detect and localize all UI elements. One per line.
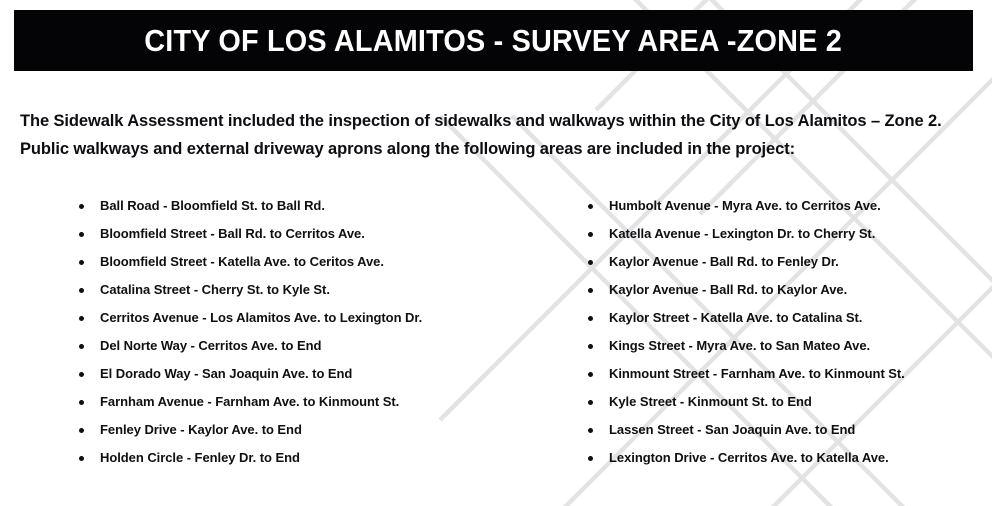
list-item: Bloomfield Street - Ball Rd. to Cerritos… [76,220,520,248]
intro-paragraph: The Sidewalk Assessment included the ins… [20,107,960,163]
street-list-left: Ball Road - Bloomfield St. to Ball Rd. B… [76,192,520,472]
street-label: Humbolt Avenue - Myra Ave. to Cerritos A… [609,198,881,213]
list-item: El Dorado Way - San Joaquin Ave. to End [76,360,520,388]
page-title-bar: CITY OF LOS ALAMITOS - SURVEY AREA -ZONE… [14,10,973,71]
street-label: Kaylor Avenue - Ball Rd. to Fenley Dr. [609,254,839,269]
street-label: Fenley Drive - Kaylor Ave. to End [100,422,302,437]
street-list-right: Humbolt Avenue - Myra Ave. to Cerritos A… [585,192,992,472]
list-item: Lassen Street - San Joaquin Ave. to End [585,416,992,444]
page-title: CITY OF LOS ALAMITOS - SURVEY AREA -ZONE… [145,25,843,56]
street-label: Bloomfield Street - Ball Rd. to Cerritos… [100,226,365,241]
street-label: Cerritos Avenue - Los Alamitos Ave. to L… [100,310,422,325]
street-label: Kings Street - Myra Ave. to San Mateo Av… [609,338,870,353]
list-item: Kings Street - Myra Ave. to San Mateo Av… [585,332,992,360]
list-item: Cerritos Avenue - Los Alamitos Ave. to L… [76,304,520,332]
street-label: Ball Road - Bloomfield St. to Ball Rd. [100,198,325,213]
list-item: Lexington Drive - Cerritos Ave. to Katel… [585,444,992,472]
list-item: Holden Circle - Fenley Dr. to End [76,444,520,472]
street-label: Kinmount Street - Farnham Ave. to Kinmou… [609,366,905,381]
street-label: Bloomfield Street - Katella Ave. to Ceri… [100,254,384,269]
street-label: Katella Avenue - Lexington Dr. to Cherry… [609,226,875,241]
street-list-column-right: Humbolt Avenue - Myra Ave. to Cerritos A… [520,192,992,472]
street-label: Kaylor Avenue - Ball Rd. to Kaylor Ave. [609,282,847,297]
list-item: Katella Avenue - Lexington Dr. to Cherry… [585,220,992,248]
street-label: El Dorado Way - San Joaquin Ave. to End [100,366,352,381]
list-item: Del Norte Way - Cerritos Ave. to End [76,332,520,360]
list-item: Bloomfield Street - Katella Ave. to Ceri… [76,248,520,276]
list-item: Kinmount Street - Farnham Ave. to Kinmou… [585,360,992,388]
list-item: Fenley Drive - Kaylor Ave. to End [76,416,520,444]
list-item: Humbolt Avenue - Myra Ave. to Cerritos A… [585,192,992,220]
street-label: Catalina Street - Cherry St. to Kyle St. [100,282,330,297]
street-label: Kaylor Street - Katella Ave. to Catalina… [609,310,862,325]
list-item: Farnham Avenue - Farnham Ave. to Kinmoun… [76,388,520,416]
list-item: Kaylor Street - Katella Ave. to Catalina… [585,304,992,332]
street-label: Del Norte Way - Cerritos Ave. to End [100,338,321,353]
street-label: Lassen Street - San Joaquin Ave. to End [609,422,855,437]
street-label: Holden Circle - Fenley Dr. to End [100,450,300,465]
list-item: Kyle Street - Kinmount St. to End [585,388,992,416]
street-label: Farnham Avenue - Farnham Ave. to Kinmoun… [100,394,399,409]
document-page: CITY OF LOS ALAMITOS - SURVEY AREA -ZONE… [0,0,992,506]
list-item: Kaylor Avenue - Ball Rd. to Kaylor Ave. [585,276,992,304]
street-label: Kyle Street - Kinmount St. to End [609,394,812,409]
street-label: Lexington Drive - Cerritos Ave. to Katel… [609,450,889,465]
street-list-column-left: Ball Road - Bloomfield St. to Ball Rd. B… [0,192,520,472]
list-item: Ball Road - Bloomfield St. to Ball Rd. [76,192,520,220]
list-item: Kaylor Avenue - Ball Rd. to Fenley Dr. [585,248,992,276]
street-list-columns: Ball Road - Bloomfield St. to Ball Rd. B… [0,192,992,472]
list-item: Catalina Street - Cherry St. to Kyle St. [76,276,520,304]
